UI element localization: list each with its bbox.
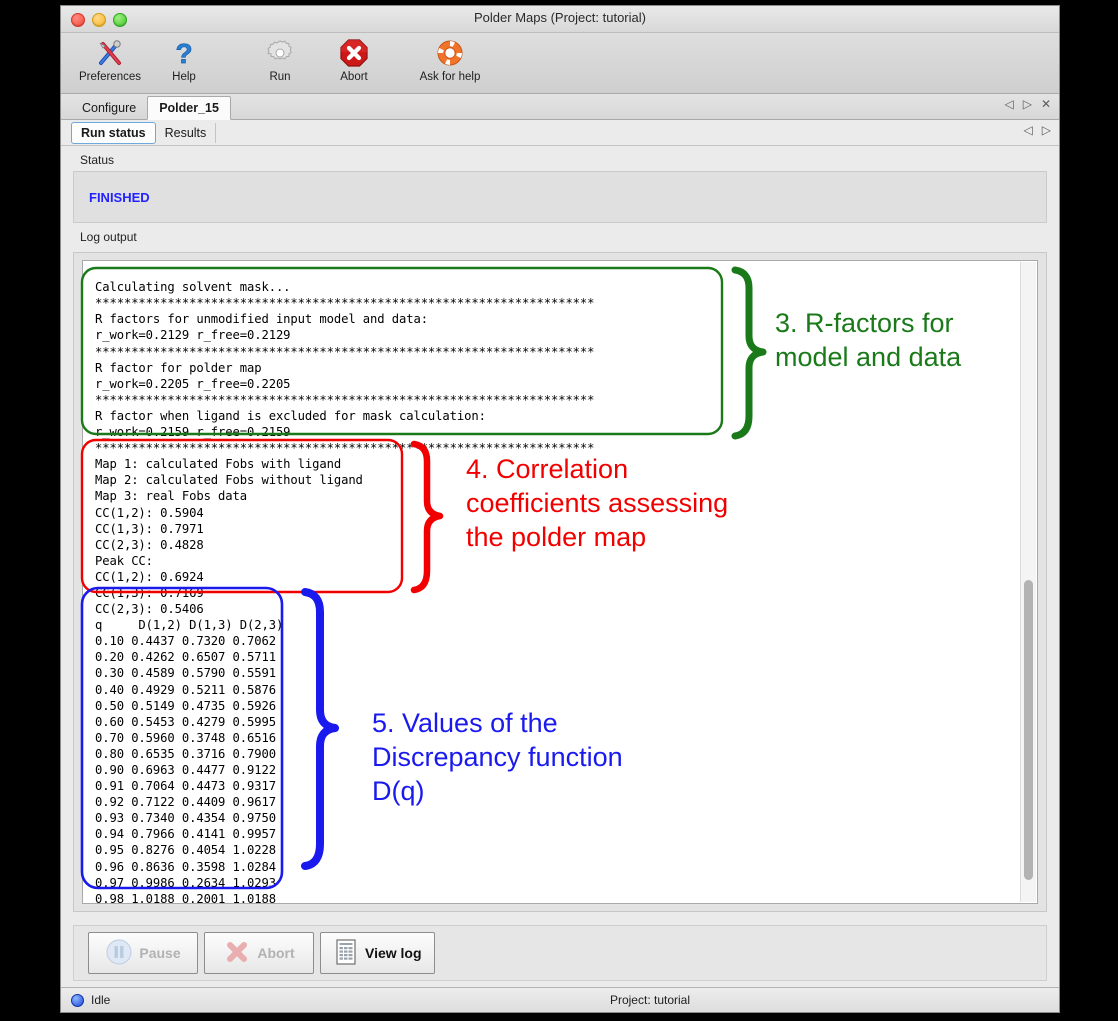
pause-button[interactable]: Pause: [88, 932, 198, 974]
status-section-label: Status: [73, 146, 1047, 171]
pause-button-label: Pause: [139, 945, 180, 961]
run-subtabstrip: Run status Results ◁ ▷: [61, 120, 1059, 146]
log-vertical-scrollbar[interactable]: [1020, 262, 1036, 902]
toolbar-label-ask-for-help: Ask for help: [413, 71, 487, 84]
status-panel: FINISHED: [73, 171, 1047, 223]
tab-polder-15[interactable]: Polder_15: [147, 96, 231, 120]
view-log-button-label: View log: [365, 945, 422, 961]
status-indicator-icon: [71, 994, 84, 1007]
status-badge: FINISHED: [89, 190, 150, 205]
window-title: Polder Maps (Project: tutorial): [61, 10, 1059, 25]
annotation-label-5: 5. Values of the Discrepancy function D(…: [372, 706, 623, 808]
x-icon: [223, 938, 251, 969]
document-grid-icon: [333, 938, 359, 969]
toolbar-button-help[interactable]: ? Help: [147, 33, 221, 84]
log-section-label: Log output: [73, 223, 1047, 248]
toolbar-label-help: Help: [147, 71, 221, 84]
run-status-panel: Status FINISHED Log output Calculating s…: [61, 146, 1059, 991]
toolbar-button-abort[interactable]: Abort: [317, 33, 391, 84]
annotation-label-3: 3. R-factors for model and data: [775, 306, 961, 374]
status-bar-project: Project: tutorial: [401, 993, 1059, 1007]
subtab-run-status[interactable]: Run status: [71, 122, 156, 144]
annotation-label-4: 4. Correlation coefficients assessing th…: [466, 452, 728, 554]
tab-next-icon[interactable]: ▷: [1023, 98, 1032, 110]
tools-icon: [73, 36, 147, 70]
toolbar-button-preferences[interactable]: Preferences: [73, 33, 147, 84]
abort-button[interactable]: Abort: [204, 932, 314, 974]
subtab-prev-icon[interactable]: ◁: [1024, 124, 1033, 136]
question-mark-icon: ?: [147, 36, 221, 70]
lifebuoy-icon: [413, 36, 487, 70]
toolbar-label-abort: Abort: [317, 71, 391, 84]
subtab-next-icon[interactable]: ▷: [1042, 124, 1051, 136]
toolbar-label-run: Run: [243, 71, 317, 84]
abort-button-label: Abort: [257, 945, 294, 961]
toolbar-button-run[interactable]: Run: [243, 33, 317, 84]
subtab-results[interactable]: Results: [156, 123, 217, 143]
run-control-buttonbar: Pause Abort: [73, 925, 1047, 981]
project-tabstrip: Configure Polder_15 ◁ ▷ ✕: [61, 94, 1059, 120]
subtabstrip-nav: ◁ ▷: [1024, 124, 1051, 136]
tab-prev-icon[interactable]: ◁: [1004, 98, 1013, 110]
gear-icon: [243, 36, 317, 70]
window-titlebar: Polder Maps (Project: tutorial): [61, 6, 1059, 33]
status-bar-state-group: Idle: [61, 993, 401, 1007]
view-log-button[interactable]: View log: [320, 932, 435, 974]
status-bar: Idle Project: tutorial: [61, 987, 1059, 1012]
tabstrip-nav: ◁ ▷ ✕: [1004, 98, 1051, 110]
pause-icon: [105, 938, 133, 969]
tab-configure[interactable]: Configure: [71, 97, 147, 119]
log-output-text: Calculating solvent mask... ************…: [95, 279, 594, 904]
toolbar-label-preferences: Preferences: [73, 71, 147, 84]
main-toolbar: Preferences ? Help: [61, 33, 1059, 94]
log-scrollbar-thumb[interactable]: [1024, 580, 1033, 880]
toolbar-button-ask-for-help[interactable]: Ask for help: [413, 33, 487, 84]
screen: Polder Maps (Project: tutorial): [0, 0, 1118, 1021]
tab-close-icon[interactable]: ✕: [1041, 98, 1051, 110]
stop-x-icon: [317, 36, 391, 70]
svg-text:?: ?: [175, 38, 192, 68]
status-bar-state: Idle: [91, 993, 110, 1007]
